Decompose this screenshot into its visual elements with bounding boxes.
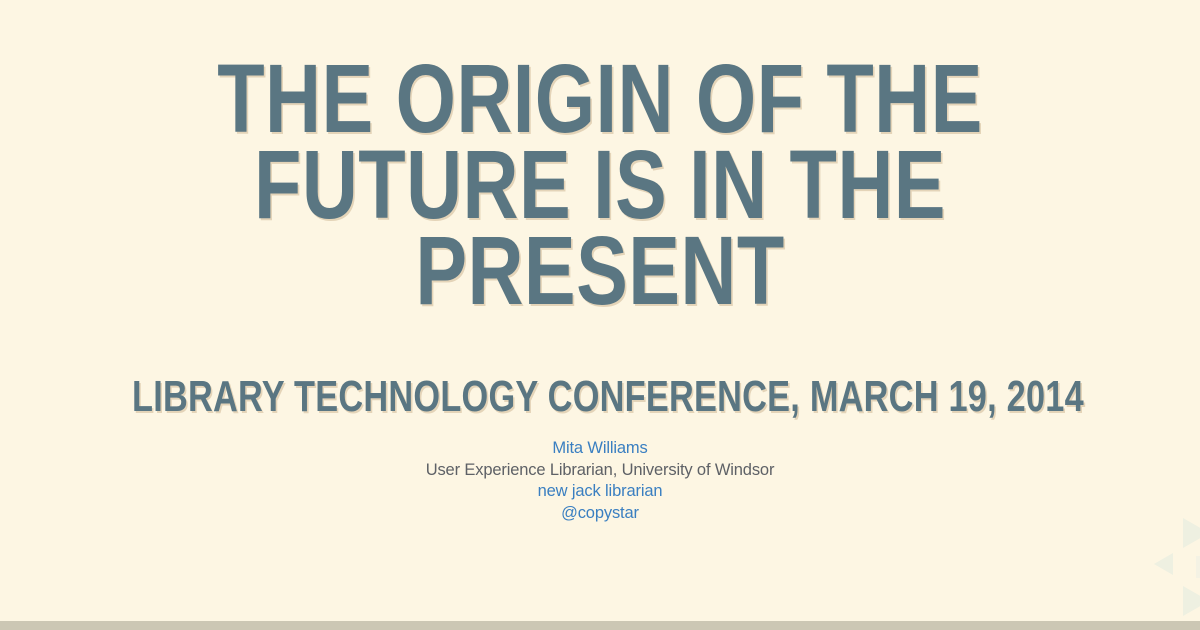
presenter-name-link[interactable]: Mita Williams [0,438,1200,460]
slide-subtitle: Library Technology Conference, March 19,… [132,375,1068,419]
presenter-blog-link[interactable]: new jack librarian [0,481,1200,503]
page-title: The origin of the future is in the prese… [0,56,1200,314]
triangle-left-icon[interactable] [1154,553,1173,575]
triangle-down-icon[interactable] [1183,586,1200,616]
presenter-byline: Mita Williams User Experience Librarian,… [0,438,1200,524]
title-line-3: present [120,228,1080,314]
nav-edge-marker [1196,556,1200,578]
bottom-bar [0,621,1200,630]
triangle-up-icon[interactable] [1183,518,1200,548]
presenter-twitter-handle-link[interactable]: @copystar [0,503,1200,525]
presenter-role: User Experience Librarian, University of… [0,460,1200,482]
presentation-slide: The origin of the future is in the prese… [0,0,1200,630]
